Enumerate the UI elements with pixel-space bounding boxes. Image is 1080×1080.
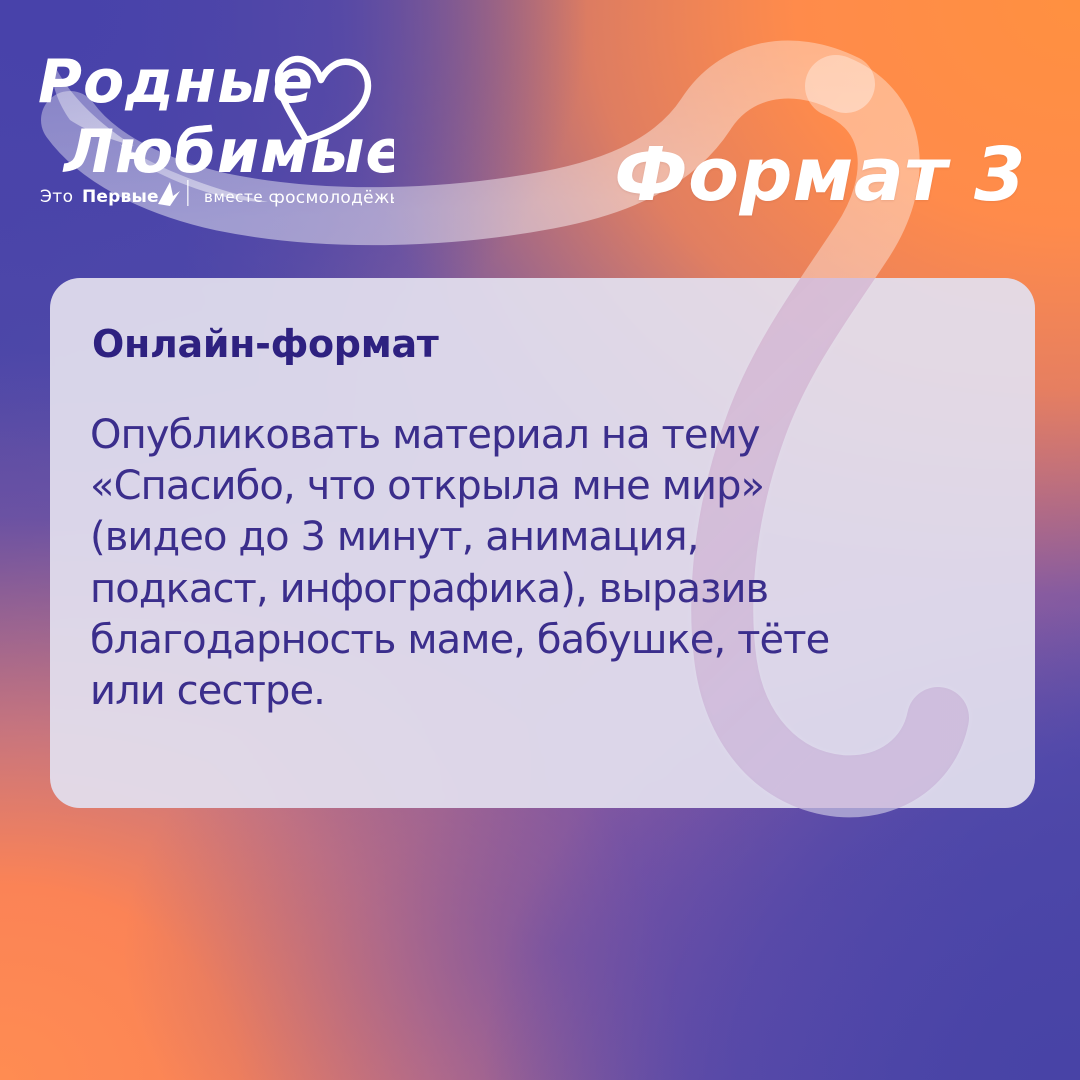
card-content: Онлайн-формат Опубликовать материал на т… — [50, 278, 1035, 717]
svg-text:росмолодёжь: росмолодёжь — [274, 188, 394, 208]
brand-logo: Родные Любимые Это Первые вместе с росмо… — [34, 30, 394, 215]
poster-canvas: Родные Любимые Это Первые вместе с росмо… — [0, 0, 1080, 1080]
card-heading: Онлайн-формат — [92, 322, 979, 366]
svg-text:Родные: Родные — [38, 47, 314, 117]
content-card: Онлайн-формат Опубликовать материал на т… — [50, 278, 1035, 808]
card-body-text: Опубликовать материал на тему «Спасибо, … — [90, 410, 979, 717]
page-title: Формат 3 — [614, 132, 1026, 218]
svg-text:Первые: Первые — [82, 187, 159, 207]
svg-text:Любимые: Любимые — [62, 117, 394, 187]
svg-text:Это: Это — [40, 187, 73, 207]
svg-text:вместе с: вместе с — [204, 188, 277, 206]
